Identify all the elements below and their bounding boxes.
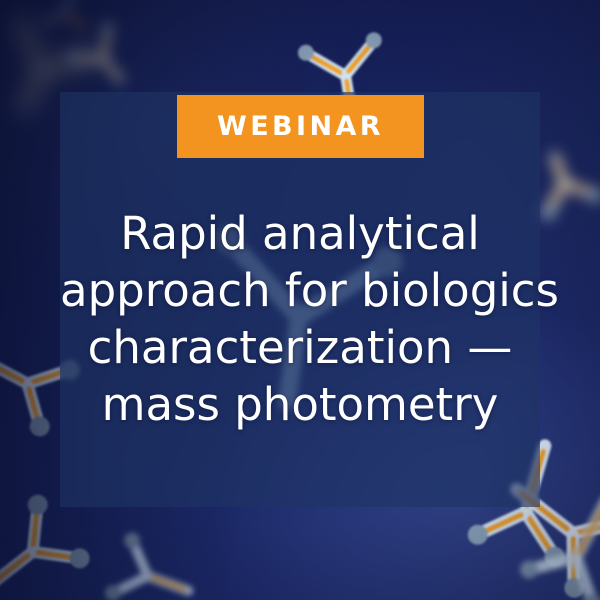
webinar-card: WEBINAR Rapid analytical approach for bi…	[0, 0, 600, 600]
page-title: Rapid analytical approach for biologics …	[60, 205, 540, 433]
page-title-line-4: mass photometry	[60, 376, 540, 433]
page-title-line-1: Rapid analytical	[60, 205, 540, 262]
page-title-line-2: approach for biologics	[60, 262, 540, 319]
page-title-line-3: characterization —	[60, 319, 540, 376]
webinar-badge-label: WEBINAR	[217, 113, 384, 140]
webinar-badge: WEBINAR	[177, 95, 424, 158]
